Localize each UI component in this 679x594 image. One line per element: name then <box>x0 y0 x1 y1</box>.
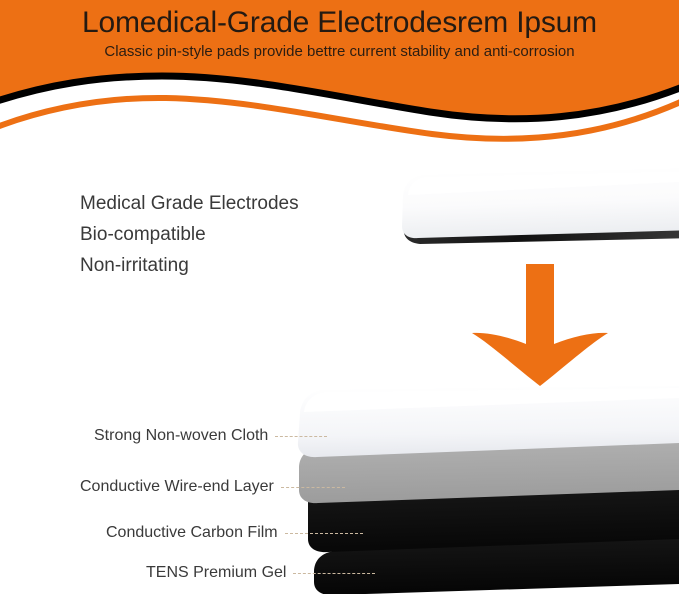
stack-label-row: Conductive Carbon Film <box>106 525 363 541</box>
header-banner: Lomedical-Grade Electrodesrem Ipsum Clas… <box>0 0 679 150</box>
feature-list: Medical Grade Electrodes Bio-compatible … <box>80 188 299 281</box>
page-subtitle: Classic pin-style pads provide bettre cu… <box>0 39 679 61</box>
stack-label-text: TENS Premium Gel <box>146 565 286 581</box>
stack-label-text: Strong Non-woven Cloth <box>94 428 268 444</box>
stack-label-row: TENS Premium Gel <box>146 565 375 581</box>
leader-line <box>293 573 375 574</box>
leader-line <box>285 533 363 534</box>
header-text-block: Lomedical-Grade Electrodesrem Ipsum Clas… <box>0 0 679 61</box>
down-arrow-shape <box>472 264 608 386</box>
stack-label-group: Strong Non-woven Cloth Conductive Wire-e… <box>0 386 400 594</box>
page-title: Lomedical-Grade Electrodesrem Ipsum <box>0 0 679 39</box>
electrode-pad-top <box>398 168 679 248</box>
stack-label-row: Conductive Wire-end Layer <box>80 479 345 495</box>
down-arrow-icon <box>470 258 610 388</box>
feature-item: Bio-compatible <box>80 219 299 250</box>
leader-line <box>275 436 327 437</box>
feature-item: Medical Grade Electrodes <box>80 188 299 219</box>
stack-label-text: Conductive Carbon Film <box>106 525 278 541</box>
stack-label-text: Conductive Wire-end Layer <box>80 479 274 495</box>
feature-item: Non-irritating <box>80 250 299 281</box>
stack-label-row: Strong Non-woven Cloth <box>94 428 327 444</box>
product-infographic: Lomedical-Grade Electrodesrem Ipsum Clas… <box>0 0 679 594</box>
leader-line <box>281 487 345 488</box>
